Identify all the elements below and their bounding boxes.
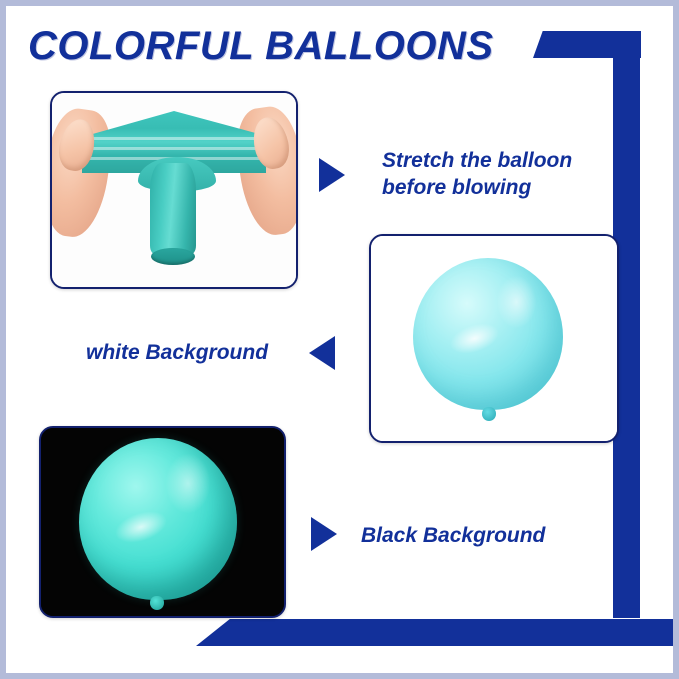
arrow-left-icon — [309, 336, 335, 370]
poster-canvas: COLORFUL BALLOONS — [0, 0, 679, 679]
balloon-highlight — [446, 318, 503, 360]
photo-panel-black-background — [39, 426, 286, 618]
page-title: COLORFUL BALLOONS — [28, 24, 494, 69]
bottom-banner-decoration — [196, 619, 679, 646]
balloon-highlight — [166, 454, 210, 512]
caption-stretch-line1: Stretch the balloon — [382, 147, 612, 174]
balloon-fold-line — [86, 147, 262, 150]
balloon-inflated-light-cyan — [413, 258, 563, 410]
caption-stretch-line2: before blowing — [382, 174, 612, 201]
photo-balloon-black-bg — [41, 428, 284, 616]
balloon-inflated-teal — [79, 438, 237, 600]
photo-panel-stretch — [50, 91, 298, 289]
balloon-highlight — [497, 276, 536, 328]
arrow-right-icon — [319, 158, 345, 192]
arrow-right-icon — [311, 517, 337, 551]
caption-black-background: Black Background — [361, 522, 601, 549]
balloon-fold-line — [86, 137, 262, 140]
caption-stretch: Stretch the balloon before blowing — [382, 147, 612, 202]
photo-balloon-white-bg — [371, 236, 617, 441]
caption-white-label: white Background — [86, 339, 296, 366]
bracket-top-bar — [533, 31, 641, 58]
balloon-knot — [482, 407, 496, 421]
balloon-lip — [151, 248, 195, 265]
balloon-knot — [150, 596, 164, 610]
balloon-neck — [150, 163, 196, 255]
balloon-highlight — [111, 505, 171, 548]
photo-panel-white-background — [369, 234, 619, 443]
caption-black-label: Black Background — [361, 522, 601, 549]
caption-white-background: white Background — [86, 339, 296, 366]
photo-stretch-balloon — [52, 93, 296, 287]
